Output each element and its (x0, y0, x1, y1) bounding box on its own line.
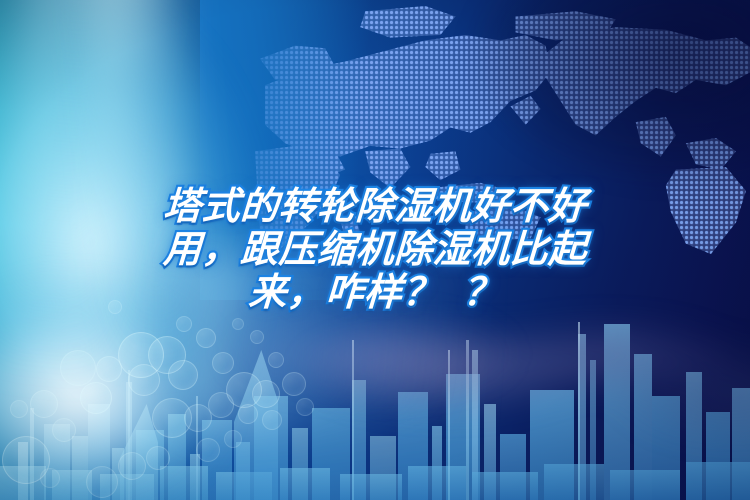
vignette-overlay (0, 0, 750, 500)
promo-banner: 塔式的转轮除湿机好不好 用，跟压缩机除湿机比起 来，咋样？ ？ (0, 0, 750, 500)
